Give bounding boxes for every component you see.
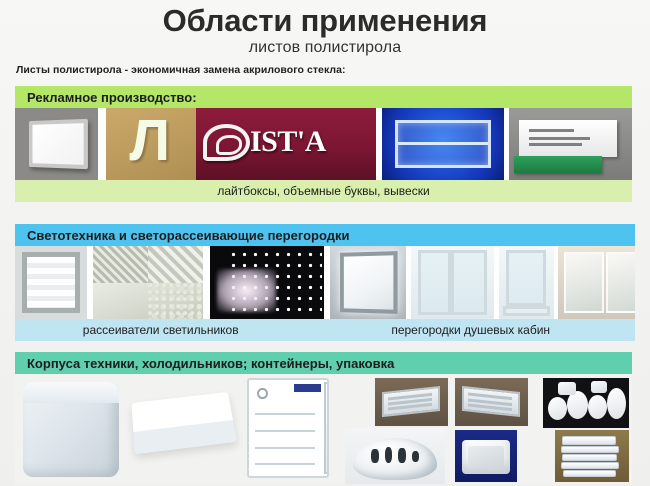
shower-cabin-1-photo (411, 246, 494, 319)
section-housings-images (15, 374, 632, 484)
refrigerator-photo (247, 378, 329, 478)
lit-panel-photo (330, 246, 406, 319)
ista-sign-photo: IST'A (196, 108, 376, 180)
section-advertising: Рекламное производство: Л IST'A (15, 86, 632, 202)
helmet-photo (345, 428, 445, 484)
image-gap (203, 246, 210, 319)
caption-shower-partitions: перегородки душевых кабин (306, 323, 635, 337)
image-gap (98, 108, 106, 180)
section-lighting-captions: рассеиватели светильников перегородки ду… (15, 319, 635, 341)
letter-glyph: Л (129, 115, 176, 173)
ventilation-grille-1-photo (375, 378, 448, 426)
section-lighting-header: Светотехника и светорассеивающие перегор… (15, 224, 635, 246)
caption-advertising: лайтбоксы, объемные буквы, вывески (15, 184, 632, 198)
stacked-containers-photo (555, 430, 629, 482)
shower-cabin-3-photo (558, 246, 635, 319)
volumetric-letter-photo: Л (106, 108, 196, 180)
lead-text: Листы полистирола - экономичная замена а… (16, 64, 346, 76)
led-matrix-photo (210, 246, 324, 319)
page-subtitle: листов полистирола (0, 37, 650, 57)
brochure-holder-photo (382, 108, 504, 180)
lightbox-photo (15, 108, 98, 180)
striped-diffuser-photo (15, 246, 87, 319)
section-advertising-images: Л IST'A (15, 108, 632, 180)
foam-dishes-photo (543, 378, 629, 428)
megafon-sign-photo (509, 108, 632, 180)
section-advertising-captions: лайтбоксы, объемные буквы, вывески (15, 180, 632, 202)
section-lighting: Светотехника и светорассеивающие перегор… (15, 224, 635, 341)
foam-container-photo (455, 430, 517, 482)
ventilation-grille-2-photo (455, 378, 528, 426)
page-title: Области применения (0, 0, 650, 37)
ista-sign-text: IST'A (250, 125, 326, 159)
slide-root: Области применения листов полистирола Ли… (0, 0, 650, 486)
appliance-panel-photo (131, 392, 237, 454)
appliance-housing-photo (23, 382, 119, 477)
section-lighting-images (15, 246, 635, 319)
texture-samples-photo (93, 246, 203, 319)
section-housings-header: Корпуса техники, холодильников; контейне… (15, 352, 632, 374)
section-advertising-header: Рекламное производство: (15, 86, 632, 108)
caption-diffusers: рассеиватели светильников (15, 323, 306, 337)
section-housings: Корпуса техники, холодильников; контейне… (15, 352, 632, 484)
shower-cabin-2-photo (499, 246, 554, 319)
rose-logo-icon (203, 124, 250, 161)
